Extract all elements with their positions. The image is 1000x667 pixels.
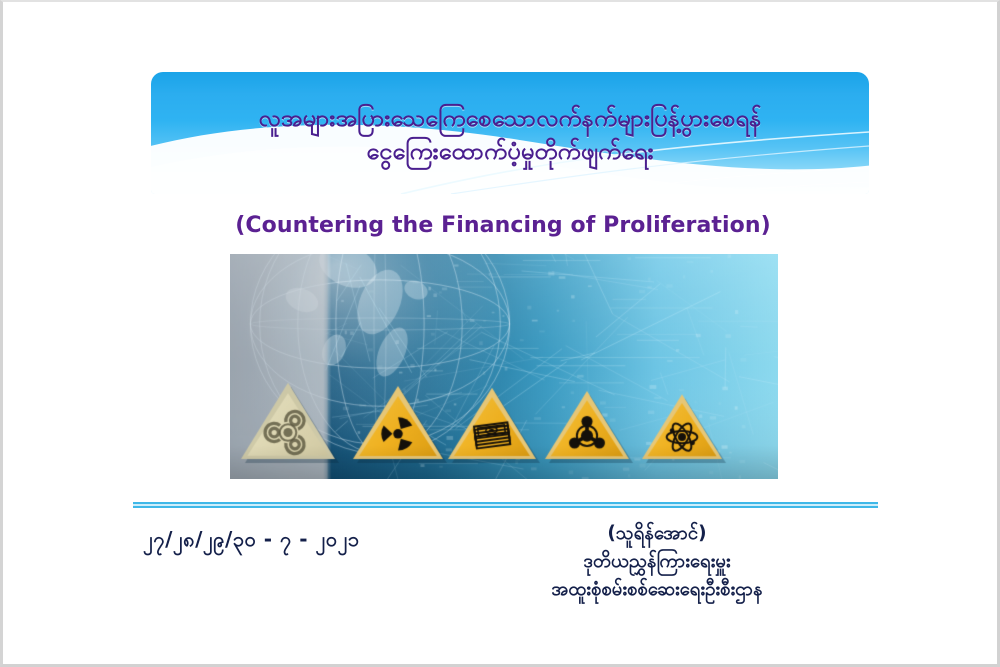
page-subtitle-english: (Countering the Financing of Proliferati… — [3, 213, 1000, 238]
horizontal-divider — [133, 502, 878, 508]
presenter-block: (သူရိန်အောင်) ဒုတိယညွှန်ကြားရေးမှူး အထူး… — [447, 520, 867, 604]
hero-image — [230, 254, 778, 479]
presenter-title: ဒုတိယညွှန်ကြားရေးမှူး — [447, 548, 867, 576]
title-banner: လူအများအပြားသေကြေစေသောလက်နက်များပြန့်ပွာ… — [151, 72, 869, 194]
page-title: လူအများအပြားသေကြေစေသောလက်နက်များပြန့်ပွာ… — [151, 102, 869, 168]
slide-page: လူအများအပြားသေကြေစေသောလက်နက်များပြန့်ပွာ… — [0, 0, 1000, 667]
presenter-department: အထူးစုံစမ်းစစ်ဆေးရေးဦးစီးဌာန — [447, 576, 867, 604]
hero-image-canvas — [230, 254, 778, 479]
page-title-line-2: ငွေကြေးထောက်ပံ့မှုတိုက်ဖျက်ရေး — [151, 135, 869, 168]
divider-rule-bottom — [133, 506, 878, 508]
presenter-name: (သူရိန်အောင်) — [447, 520, 867, 548]
presentation-date: ၂၇/၂၈/၂၉/၃၀ - ၇ - ၂၀၂၁ — [143, 526, 360, 556]
page-title-line-1: လူအများအပြားသေကြေစေသောလက်နက်များပြန့်ပွာ… — [151, 102, 869, 135]
